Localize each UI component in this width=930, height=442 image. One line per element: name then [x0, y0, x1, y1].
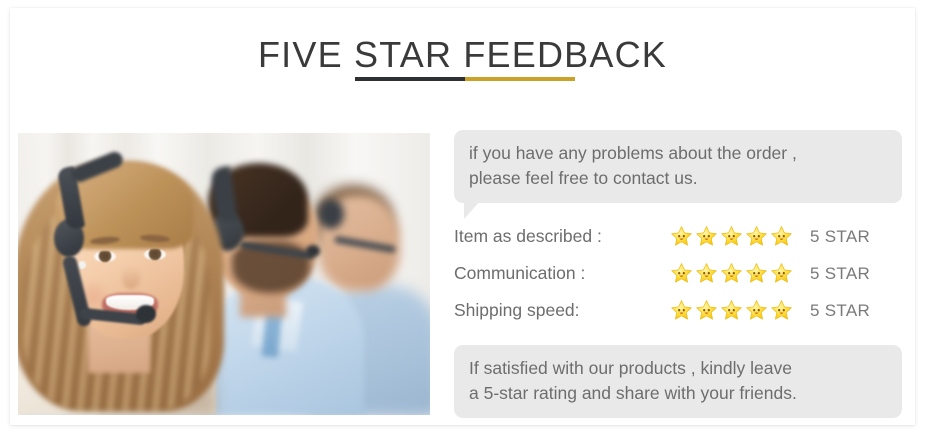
star-icon [770, 262, 793, 285]
leave-rating-speech-bubble: If satisfied with our products , kindly … [454, 345, 902, 418]
rating-row: Shipping speed: [454, 292, 902, 329]
feedback-card: FIVE STAR FEEDBACK [10, 8, 915, 425]
star-icon [670, 299, 693, 322]
rating-value: 5 STAR [810, 227, 870, 247]
star-icon [745, 299, 768, 322]
rating-stars [670, 299, 810, 322]
photo-agent-woman-eye-right [144, 249, 166, 260]
rating-label: Shipping speed: [454, 300, 670, 321]
feedback-content-column: if you have any problems about the order… [450, 126, 902, 416]
rating-value: 5 STAR [810, 301, 870, 321]
title-underline [355, 77, 575, 81]
star-icon [770, 225, 793, 248]
photo-agent-woman-eye-left [94, 251, 116, 262]
header: FIVE STAR FEEDBACK [10, 8, 915, 118]
star-icon [695, 262, 718, 285]
star-icon [720, 299, 743, 322]
star-icon [695, 225, 718, 248]
rating-row: Item as described : [454, 218, 902, 255]
photo-agent-background-headset [318, 199, 344, 229]
contact-us-speech-bubble-tail [464, 200, 481, 219]
rating-stars [670, 225, 810, 248]
photo-agent-woman-nose [122, 267, 140, 289]
photo-agent-man-mic-tip [306, 245, 320, 257]
rating-label: Item as described : [454, 226, 670, 247]
title-underline-dark-segment [355, 77, 465, 81]
rating-stars [670, 262, 810, 285]
rating-row: Communication : [454, 255, 902, 292]
star-icon [670, 225, 693, 248]
star-icon [745, 225, 768, 248]
page-title: FIVE STAR FEEDBACK [10, 34, 915, 76]
star-icon [720, 225, 743, 248]
title-underline-gold-segment [465, 77, 575, 81]
rating-value: 5 STAR [810, 264, 870, 284]
contact-us-speech-bubble: if you have any problems about the order… [454, 130, 902, 203]
ratings-list: Item as described : [454, 218, 902, 329]
star-icon [770, 299, 793, 322]
star-icon [670, 262, 693, 285]
rating-label: Communication : [454, 263, 670, 284]
star-icon [695, 299, 718, 322]
photo-agent-woman-mic-tip [136, 305, 156, 323]
customer-service-agents-photo [18, 133, 430, 415]
photo-agent-woman-earring [78, 261, 86, 269]
star-icon [745, 262, 768, 285]
star-icon [720, 262, 743, 285]
